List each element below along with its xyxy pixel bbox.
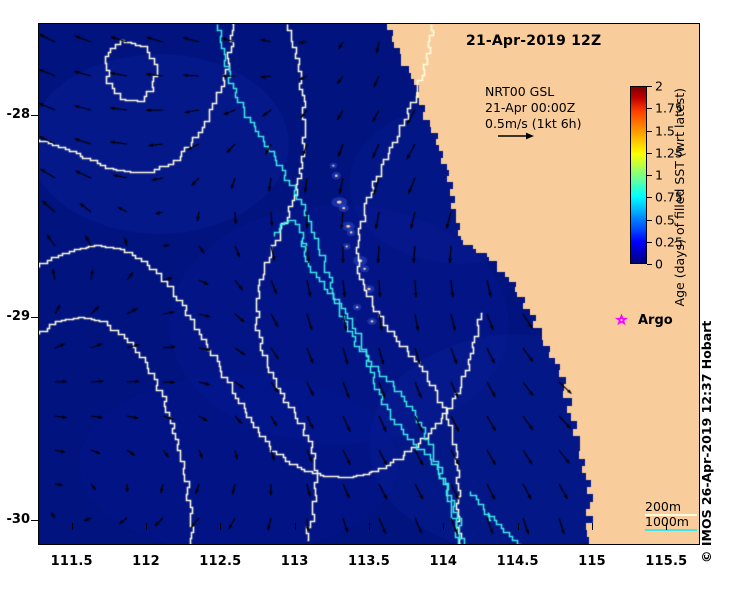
x-axis-tick xyxy=(369,523,370,530)
x-axis-tick-label: 115 xyxy=(562,554,622,569)
x-axis-tick xyxy=(443,523,444,530)
y-axis-tick xyxy=(31,115,38,116)
annotation-line-1: NRT00 GSL xyxy=(485,84,581,100)
colorbar-tick xyxy=(647,108,652,109)
map-title: 21-Apr-2019 12Z xyxy=(466,33,601,49)
x-axis-tick xyxy=(592,523,593,530)
colorbar-tick-label: 0 xyxy=(655,257,663,272)
figure-root: 21-Apr-2019 12Z NRT00 GSL 21-Apr 00:00Z … xyxy=(0,0,739,592)
colorbar-tick xyxy=(647,153,652,154)
argo-float-marker-icon xyxy=(614,313,629,328)
colorbar-tick xyxy=(647,242,652,243)
x-axis-tick xyxy=(146,523,147,530)
map-plot-area[interactable] xyxy=(38,23,700,545)
argo-legend: Argo xyxy=(614,313,673,328)
x-axis-tick-label: 115.5 xyxy=(636,554,696,569)
y-axis-tick xyxy=(31,317,38,318)
x-axis-tick xyxy=(220,523,221,530)
copyright-notice: © IMOS 26-Apr-2019 12:37 Hobart xyxy=(699,321,714,563)
colorbar-tick xyxy=(647,175,652,176)
colorbar-tick xyxy=(647,197,652,198)
y-axis-tick xyxy=(31,520,38,521)
annotation-line-2: 21-Apr 00:00Z xyxy=(485,100,581,116)
x-axis-tick-label: 113 xyxy=(265,554,325,569)
y-axis-tick-label: -30 xyxy=(0,512,30,527)
colorbar-title: Age (days) of filled SST (wrt latest) xyxy=(672,88,687,306)
x-axis-tick xyxy=(72,523,73,530)
x-axis-tick-label: 112 xyxy=(116,554,176,569)
colorbar-tick xyxy=(647,264,652,265)
x-axis-tick-label: 114.5 xyxy=(488,554,548,569)
isobath-legend-label: 200m xyxy=(645,499,681,514)
colorbar-tick-label: 1 xyxy=(655,168,663,183)
colorbar-tick-label: 2 xyxy=(655,79,663,94)
x-axis-tick-label: 112.5 xyxy=(190,554,250,569)
x-axis-tick xyxy=(295,523,296,530)
colorbar-tick xyxy=(647,86,652,87)
vector-scale-arrow-icon xyxy=(498,131,534,141)
x-axis-tick xyxy=(518,523,519,530)
map-field-canvas xyxy=(39,24,699,544)
current-annotation-block: NRT00 GSL 21-Apr 00:00Z 0.5m/s (1kt 6h) xyxy=(485,84,581,132)
x-axis-tick xyxy=(666,523,667,530)
colorbar-tick xyxy=(647,131,652,132)
colorbar-gradient xyxy=(630,86,647,264)
y-axis-tick-label: -29 xyxy=(0,309,30,324)
x-axis-tick-label: 113.5 xyxy=(339,554,399,569)
x-axis-tick-label: 114 xyxy=(413,554,473,569)
isobath-legend-swatch xyxy=(645,529,697,531)
x-axis-tick-label: 111.5 xyxy=(42,554,102,569)
colorbar-tick xyxy=(647,220,652,221)
argo-legend-label: Argo xyxy=(638,313,673,328)
annotation-line-3: 0.5m/s (1kt 6h) xyxy=(485,116,581,132)
y-axis-tick-label: -28 xyxy=(0,107,30,122)
isobath-legend-item: 200m xyxy=(645,499,689,514)
